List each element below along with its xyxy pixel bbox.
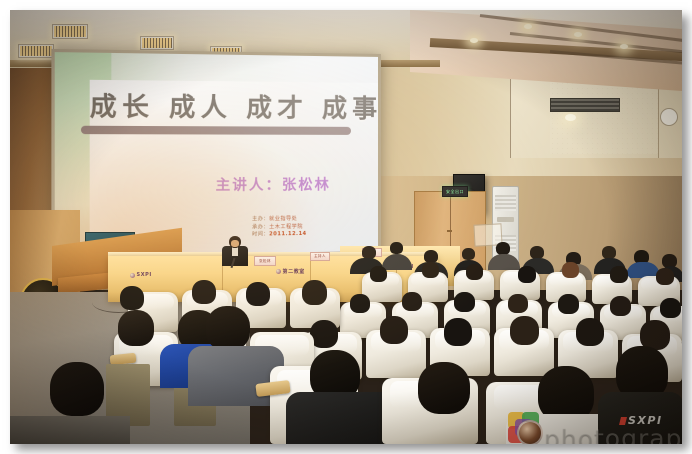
- watermark-brand-label: SXPI: [628, 414, 663, 427]
- credit-label: 承办: [252, 224, 263, 230]
- audience-member: [310, 320, 338, 348]
- air-vent: [550, 98, 620, 112]
- watermark-tick-icon: [619, 417, 627, 425]
- ceiling-light-panel: [52, 24, 88, 39]
- audience-member: [610, 296, 631, 316]
- name-placard: 主持人: [310, 252, 330, 261]
- ceiling-downlight: [574, 32, 582, 37]
- audience-member: [402, 292, 422, 311]
- audience-member: [246, 282, 270, 306]
- audience-member: [50, 362, 104, 416]
- credit-value: 2011.12.14: [269, 231, 307, 238]
- watermark-brand: SXPI: [620, 414, 663, 427]
- presentation-slide: 成长 成人 成才 成事 主讲人：张松林 主办：就业指导处 承办：土木工程学院 时…: [55, 52, 378, 256]
- projection-screen: 成长 成人 成才 成事 主讲人：张松林 主办：就业指导处 承办：土木工程学院 时…: [51, 49, 381, 259]
- head-table-logo-label: 第二教室: [283, 268, 305, 275]
- credit-label: 时间: [252, 231, 263, 237]
- slide-credits: 主办：就业指导处 承办：土木工程学院 时间：2011.12.14: [252, 216, 307, 239]
- ceiling-downlight: [470, 38, 478, 43]
- credit-label: 主办: [252, 216, 263, 222]
- audience-member: [418, 362, 470, 414]
- audience-member: [510, 316, 539, 345]
- audience-member: [518, 266, 536, 283]
- audience-member: [206, 306, 250, 350]
- watermark-word: photography: [544, 424, 682, 444]
- head-table-logo: 第二教室: [276, 268, 305, 275]
- credit-row-date: 时间：2011.12.14: [252, 231, 307, 239]
- name-placard: 张松林: [254, 256, 276, 266]
- audience-member: [350, 294, 370, 313]
- audience-member: [120, 286, 144, 310]
- audience-member: [118, 310, 154, 346]
- audience-member: [302, 280, 327, 305]
- credit-value: 就业指导处: [269, 216, 297, 222]
- ceiling-light-panel: [18, 44, 54, 58]
- wall-clock-icon: [660, 108, 676, 130]
- head-table-logo: SXPI: [130, 272, 152, 278]
- audience-member: [562, 262, 579, 278]
- audience-member: [454, 292, 475, 312]
- audience-member: [444, 318, 472, 346]
- ceiling-downlight: [524, 24, 532, 29]
- watermark: photography SXPI: [508, 408, 680, 444]
- slide-accent-bar: [81, 126, 351, 135]
- logo-dot-icon: [130, 273, 135, 278]
- logo-dot-icon: [276, 269, 281, 274]
- audience-torso: [286, 392, 396, 444]
- audience-member: [370, 266, 387, 282]
- ceiling-light-panel: [140, 36, 174, 50]
- exit-sign-icon: 安全出口: [442, 186, 468, 197]
- audience-member: [422, 262, 439, 278]
- audience-member: [576, 318, 604, 346]
- name-placard-label: 张松林: [259, 259, 271, 264]
- auditorium-scene: 成长 成人 成才 成事 主讲人：张松林 主办：就业指导处 承办：土木工程学院 时…: [10, 10, 682, 444]
- audience-member: [508, 294, 528, 313]
- audience-member: [660, 298, 681, 318]
- audience-member: [466, 264, 483, 280]
- audience-member: [558, 294, 579, 314]
- audience-member: [192, 280, 216, 304]
- photograph: 成长 成人 成才 成事 主讲人：张松林 主办：就业指导处 承办：土木工程学院 时…: [10, 10, 682, 444]
- camera-icon: [508, 412, 548, 444]
- wall-spotlight: [565, 114, 576, 121]
- ceiling-downlight: [620, 44, 628, 49]
- photo-frame: 成长 成人 成才 成事 主讲人：张松林 主办：就业指导处 承办：土木工程学院 时…: [0, 0, 692, 454]
- head-table-logo-label: SXPI: [137, 272, 152, 278]
- name-placard-label: 主持人: [314, 254, 326, 259]
- slide-title: 成长 成人 成才 成事: [90, 86, 361, 125]
- credit-value: 土木工程学院: [269, 223, 303, 229]
- audience-member: [610, 266, 628, 283]
- audience-member: [656, 268, 674, 285]
- audience-member: [390, 242, 403, 254]
- slide-speaker-line: 主讲人：张松林: [216, 174, 331, 195]
- aisle-floor: [10, 416, 130, 444]
- audience-member: [462, 248, 475, 260]
- exit-sign-label: 安全出口: [446, 190, 464, 194]
- audience-member: [380, 316, 408, 344]
